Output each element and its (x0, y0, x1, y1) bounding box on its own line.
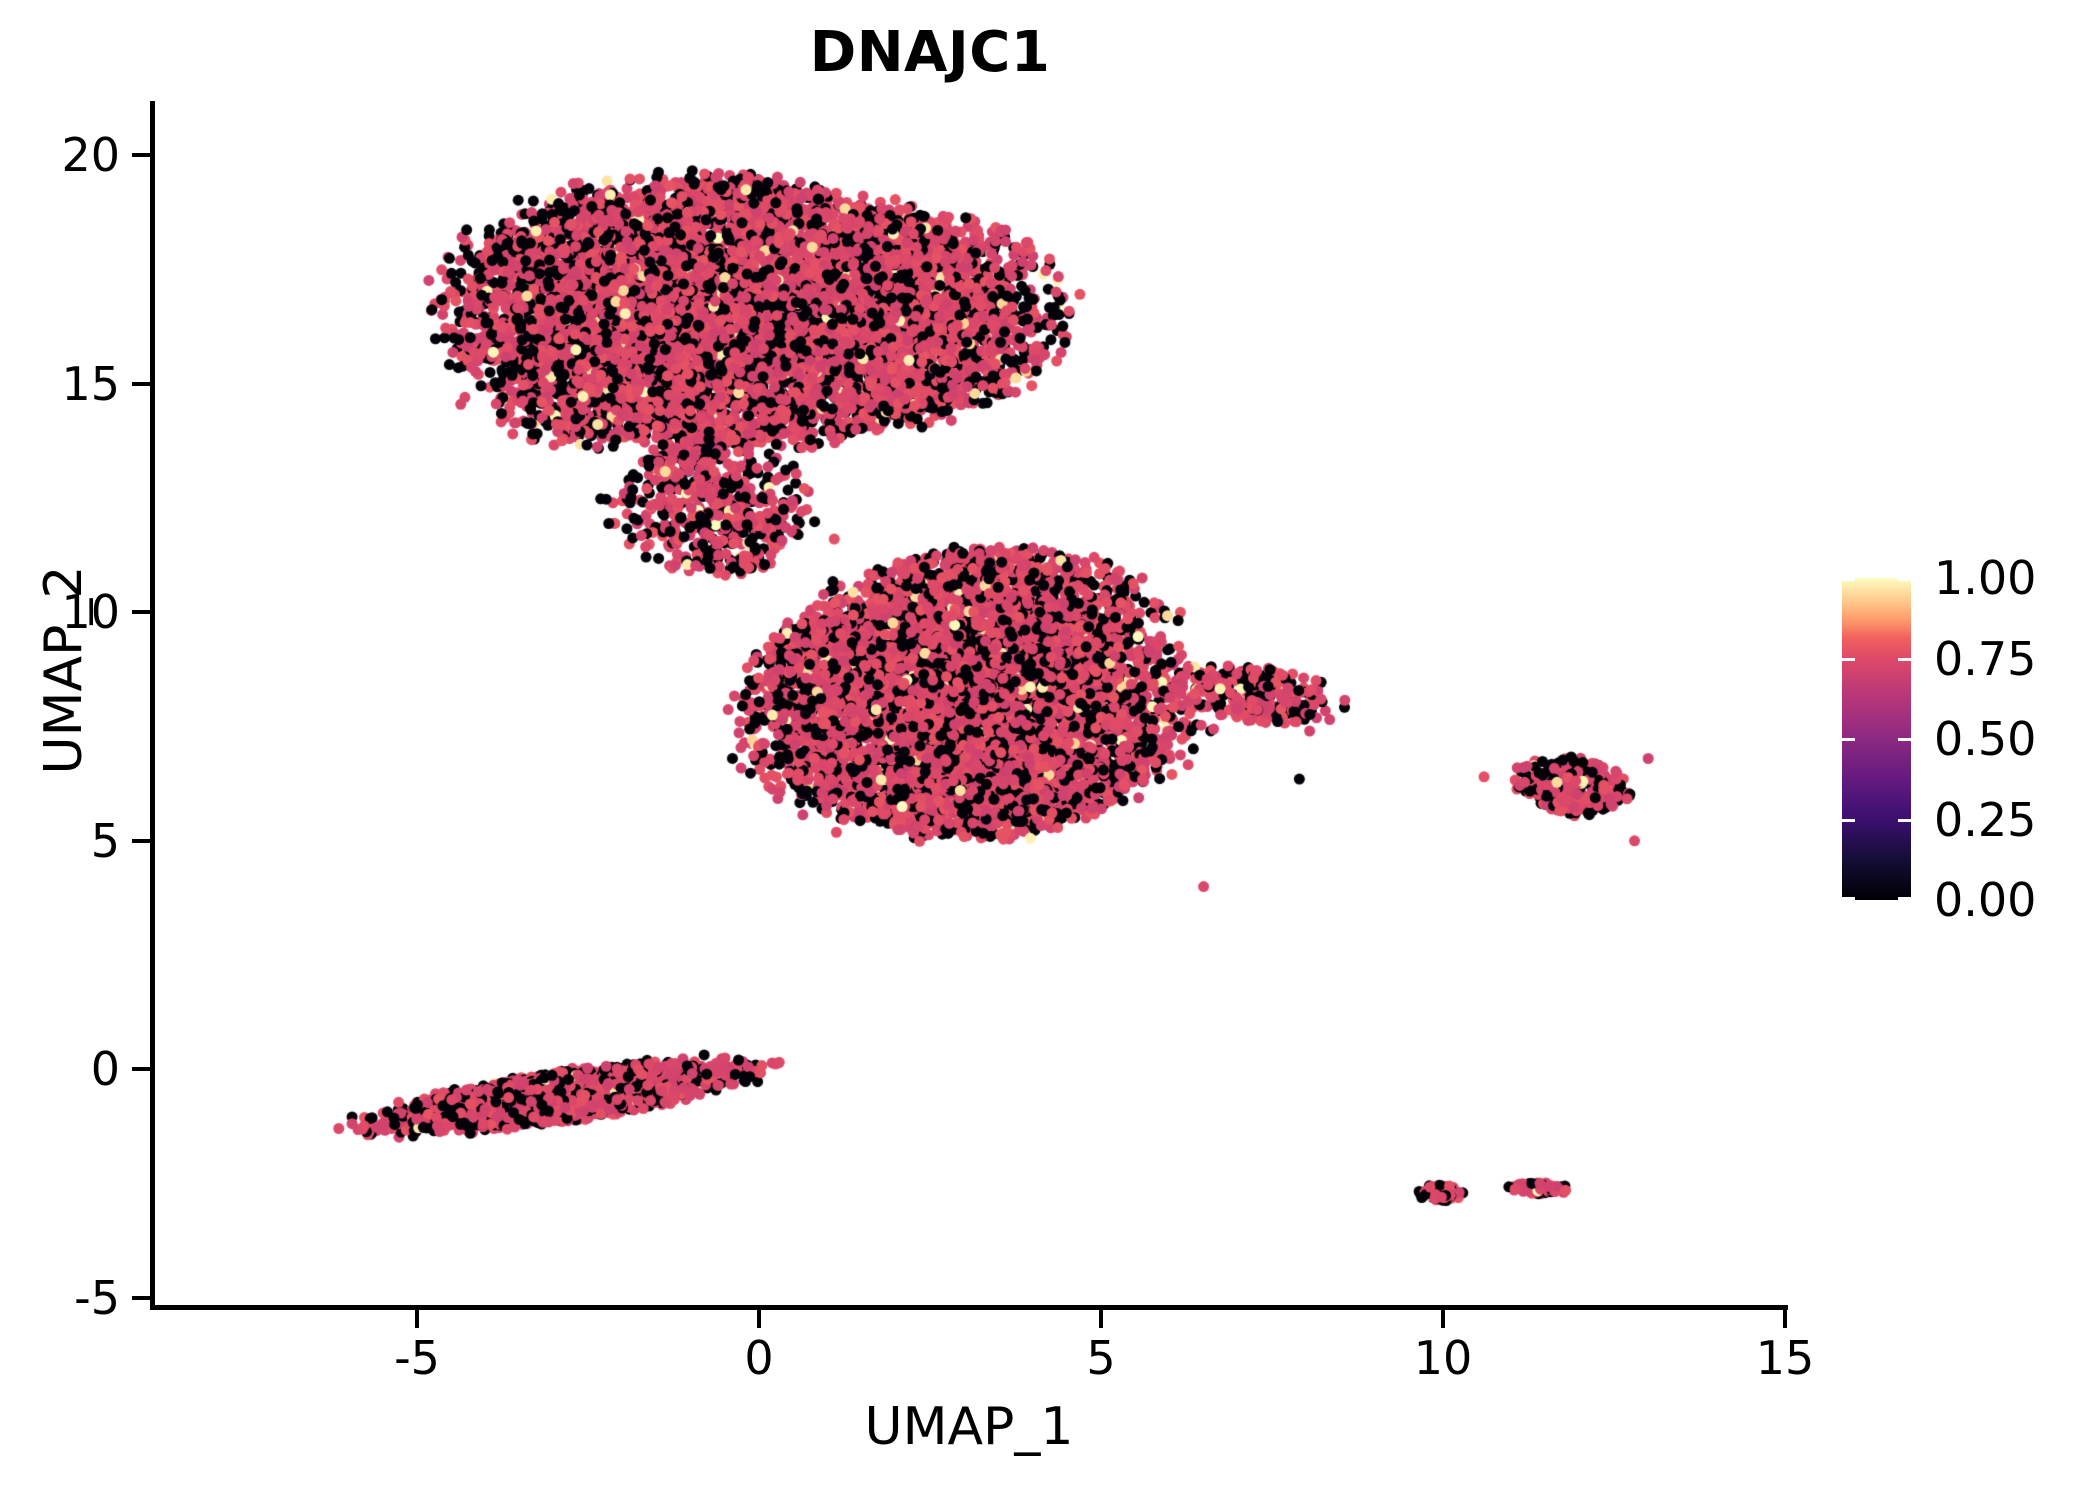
x-axis-tick-label: -5 (394, 1331, 440, 1385)
colorbar-tick-mark (1898, 897, 1911, 900)
colorbar-tick-mark (1842, 578, 1855, 581)
colorbar-tick-label: 1.00 (1934, 551, 2036, 605)
colorbar-tick-mark (1898, 578, 1911, 581)
y-axis-tick-mark (132, 839, 150, 843)
y-axis-tick-mark (132, 382, 150, 386)
x-axis-tick-mark (757, 1310, 761, 1328)
x-axis-label: UMAP_1 (150, 1397, 1788, 1457)
y-axis-tick-mark (132, 153, 150, 157)
colorbar-tick-mark (1842, 658, 1855, 661)
y-axis-label: UMAP_2 (34, 320, 94, 1020)
y-axis-tick-mark (132, 1067, 150, 1071)
y-axis-tick-label: -5 (0, 1271, 120, 1325)
x-axis-tick-label: 15 (1756, 1331, 1815, 1385)
x-axis-tick-label: 0 (744, 1331, 773, 1385)
colorbar-tick-mark (1898, 819, 1911, 822)
colorbar-tick-mark (1898, 738, 1911, 741)
scatter-points-layer (155, 101, 1788, 1305)
x-axis-tick-label: 5 (1086, 1331, 1115, 1385)
colorbar-tick-mark (1842, 897, 1855, 900)
x-axis-tick-mark (1099, 1310, 1103, 1328)
figure-canvas: DNAJC1 -5051015 -505101520 UMAP_1 UMAP_2… (0, 0, 2100, 1500)
colorbar-tick-label: 0.25 (1934, 793, 2036, 847)
x-axis-tick-label: 10 (1414, 1331, 1473, 1385)
x-axis-tick-mark (1441, 1310, 1445, 1328)
y-axis-line (150, 101, 155, 1310)
scatter-plot-area (155, 101, 1788, 1305)
colorbar-tick-label: 0.75 (1934, 632, 2036, 686)
colorbar-tick-mark (1898, 658, 1911, 661)
x-axis-tick-mark (415, 1310, 419, 1328)
colorbar-tick-mark (1842, 819, 1855, 822)
colorbar-tick-mark (1842, 738, 1855, 741)
colorbar-tick-label: 0.00 (1934, 873, 2036, 927)
x-axis-line (150, 1305, 1788, 1310)
page-title: DNAJC1 (0, 22, 1860, 84)
y-axis-tick-mark (132, 610, 150, 614)
y-axis-tick-label: 20 (0, 128, 120, 182)
y-axis-tick-label: 0 (0, 1042, 120, 1096)
colorbar-tick-label: 0.50 (1934, 712, 2036, 766)
y-axis-tick-mark (132, 1296, 150, 1300)
x-axis-tick-mark (1783, 1310, 1787, 1328)
